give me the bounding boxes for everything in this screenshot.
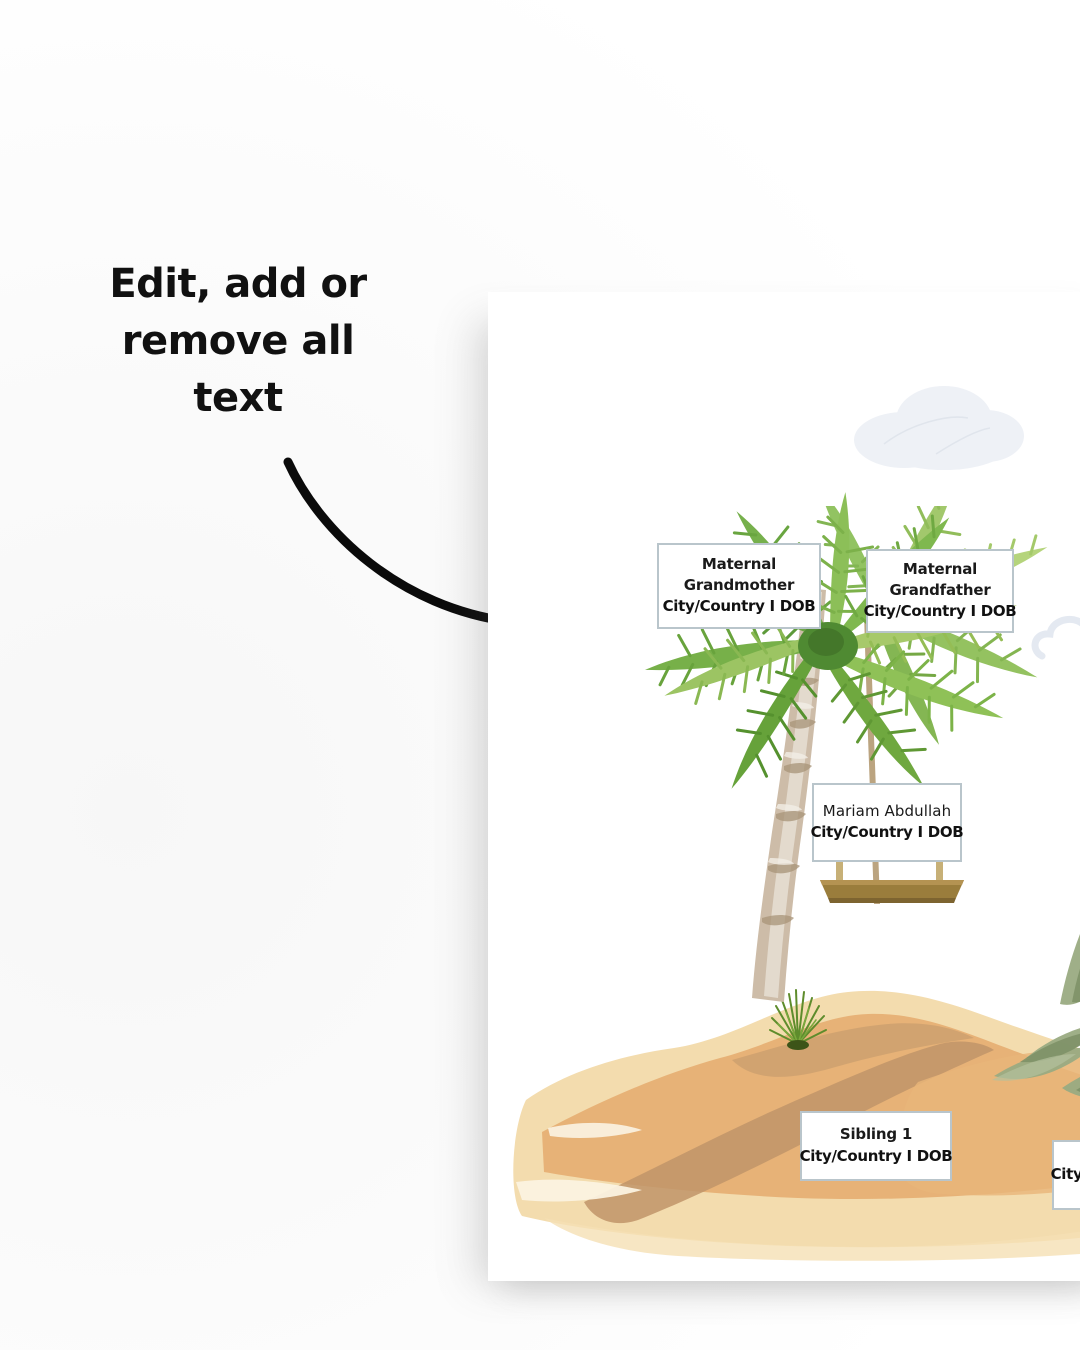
screenshot-stage: Edit, add or remove all text [0,0,1080,1350]
label-box-sibling-2[interactable]: City/Country I DOB [1052,1140,1080,1210]
label-name-line-1: Sibling 1 [840,1124,912,1145]
label-box-maternal-grandfather[interactable]: Maternal Grandfather City/Country I DOB [866,549,1014,633]
label-meta: City/Country I DOB [800,1146,953,1167]
label-box-self[interactable]: Mariam Abdullah City/Country I DOB [812,783,962,862]
label-meta: City/Country I DOB [663,596,816,617]
label-name-line-2: Grandfather [889,580,990,601]
label-meta: City/Country I DOB [811,822,964,843]
label-box-maternal-grandmother[interactable]: Maternal Grandmother City/Country I DOB [657,543,821,629]
label-name-line-1: Maternal [702,554,776,575]
label-name-line-1: Mariam Abdullah [823,801,951,822]
label-name-line-2: Grandmother [684,575,794,596]
label-meta: City/Country I DOB [864,601,1017,622]
annotation-headline: Edit, add or remove all text [96,256,380,426]
artwork-card[interactable]: Maternal Grandmother City/Country I DOB … [488,292,1080,1281]
label-meta: City/Country I DOB [1051,1164,1080,1185]
sage-leaves-icon [964,852,1080,1122]
cloud-icon [840,378,1040,474]
label-box-sibling-1[interactable]: Sibling 1 City/Country I DOB [800,1111,952,1181]
artwork-canvas: Maternal Grandmother City/Country I DOB … [488,292,1080,1281]
label-name-line-1: Maternal [903,559,977,580]
